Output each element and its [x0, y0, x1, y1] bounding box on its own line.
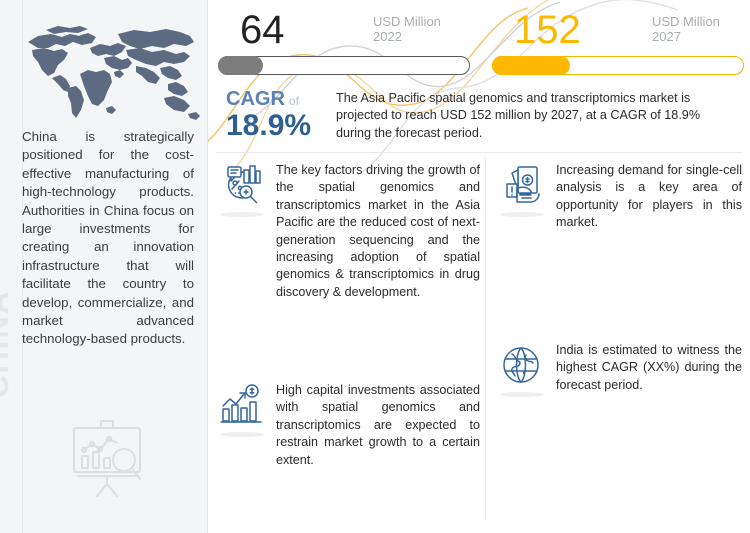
globe-icon: [498, 342, 544, 388]
cagr-label: CAGR: [226, 88, 285, 110]
card-restraints-text: High capital investments associated with…: [276, 382, 480, 469]
stat-2022-head: 64 USD Million 2022: [218, 10, 470, 56]
infographic-root: China is strategically positioned for th…: [0, 0, 750, 533]
stat-2022-bar: [218, 56, 470, 75]
region-description: China is strategically positioned for th…: [22, 128, 194, 349]
icon-shadow: [220, 432, 264, 437]
analytics-percent-magnifier-icon: [218, 162, 264, 208]
stat-2022-year: 2022: [373, 29, 491, 44]
stat-2022-unit-block: USD Million 2022: [373, 14, 491, 44]
stat-2027-unit-block: USD Million 2027: [652, 14, 750, 44]
stat-2027-head: 152 USD Million 2027: [492, 10, 744, 56]
card-india-text: India is estimated to witness the highes…: [556, 342, 742, 394]
content-area: 64 USD Million 2022 152 USD Million 2027: [208, 0, 750, 533]
stat-2027-unit: USD Million: [652, 14, 750, 29]
cagr-block: CAGRof 18.9%: [226, 88, 348, 142]
bar-chart-dollar-icon: [218, 382, 264, 428]
region-watermark-label: CHINA: [0, 278, 13, 398]
stat-2022-bar-fill: [218, 56, 263, 75]
vertical-divider: [485, 158, 486, 520]
stat-2022-value: 64: [240, 8, 285, 52]
cagr-value: 18.9%: [226, 110, 348, 142]
stat-2027-bar-fill: [492, 56, 570, 75]
stat-2022: 64 USD Million 2022: [218, 10, 470, 75]
hand-holding-money-icon: [498, 162, 544, 208]
icon-shadow: [500, 212, 544, 217]
card-drivers-text: The key factors driving the growth of th…: [276, 162, 480, 301]
icon-shadow: [220, 212, 264, 217]
card-opportunity-text: Increasing demand for single-cell analys…: [556, 162, 742, 232]
stat-2027-year: 2027: [652, 29, 750, 44]
cagr-row: CAGRof 18.9% The Asia Pacific spatial ge…: [208, 88, 750, 146]
presentation-chart-magnifier-icon: [62, 418, 158, 500]
region-panel: China is strategically positioned for th…: [0, 0, 208, 533]
stat-2027-bar: [492, 56, 744, 75]
icon-shadow: [500, 392, 544, 397]
horizontal-divider: [216, 152, 742, 153]
cagr-description: The Asia Pacific spatial genomics and tr…: [336, 90, 736, 142]
stats-row: 64 USD Million 2022 152 USD Million 2027: [208, 10, 750, 82]
stat-2027-value: 152: [514, 8, 581, 52]
world-map-icon: [18, 18, 204, 126]
cagr-of-label: of: [289, 94, 299, 108]
stat-2027: 152 USD Million 2027: [492, 10, 744, 75]
stat-2022-unit: USD Million: [373, 14, 491, 29]
